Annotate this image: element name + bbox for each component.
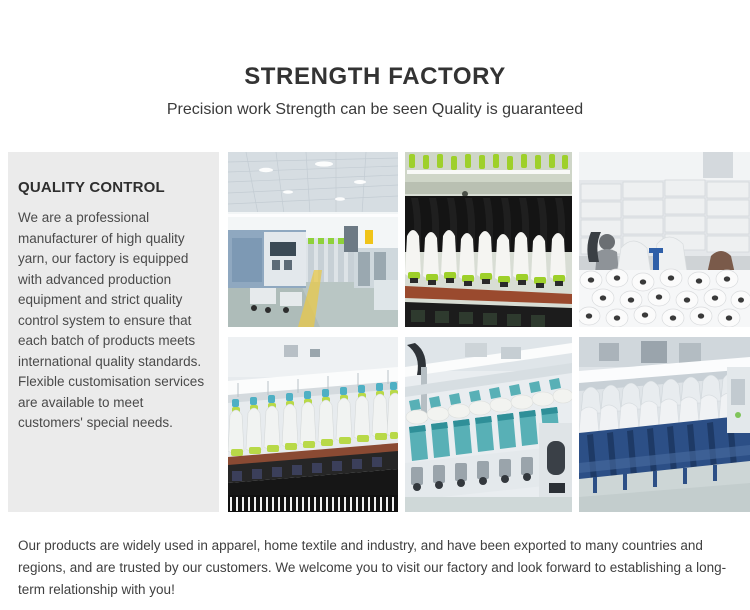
photo-winding-machine-image — [405, 337, 572, 512]
photo-spinning-bobbins — [405, 152, 572, 327]
photo-warehouse-cones-image — [579, 152, 750, 327]
photo-roving-frame — [579, 337, 750, 512]
photo-spinning-bobbins-image — [405, 152, 572, 327]
page-subtitle: Precision work Strength can be seen Qual… — [0, 98, 750, 122]
photo-spinning-frame-image — [228, 337, 398, 512]
quality-control-heading: QUALITY CONTROL — [18, 178, 207, 198]
photo-roving-frame-image — [579, 337, 750, 512]
promo-page: STRENGTH FACTORY Precision work Strength… — [0, 0, 750, 610]
photo-spinning-frame — [228, 337, 398, 512]
photo-warehouse-cones — [579, 152, 750, 327]
photo-winding-machine — [405, 337, 572, 512]
page-title: STRENGTH FACTORY — [0, 62, 750, 92]
photo-dyeing-workshop-image — [228, 152, 398, 327]
photo-dyeing-workshop — [228, 152, 398, 327]
footer-description: Our products are widely used in apparel,… — [18, 535, 732, 601]
quality-control-panel: QUALITY CONTROL We are a professional ma… — [8, 152, 219, 512]
content-band: QUALITY CONTROL We are a professional ma… — [0, 152, 750, 512]
quality-control-body: We are a professional manufacturer of hi… — [18, 208, 207, 434]
page-footer: Our products are widely used in apparel,… — [0, 527, 750, 610]
page-header: STRENGTH FACTORY Precision work Strength… — [0, 0, 750, 140]
factory-photo-grid — [228, 152, 750, 512]
